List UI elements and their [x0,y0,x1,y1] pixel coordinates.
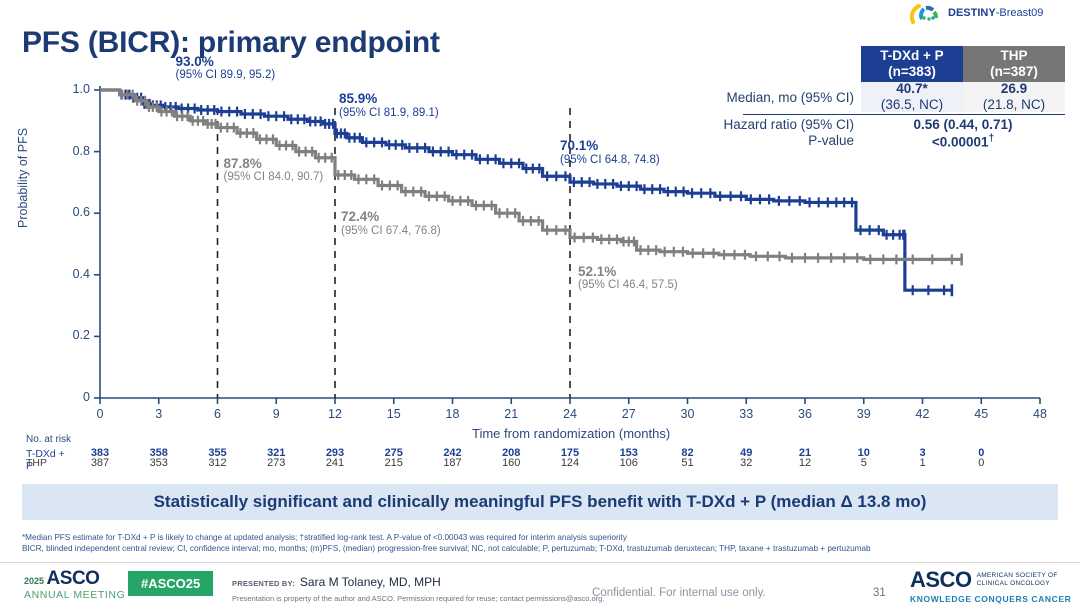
permission-text: Presentation is property of the author a… [232,594,604,603]
x-axis-tick: 36 [790,407,820,421]
annotation-ci: (95% CI 89.9, 95.2) [176,69,276,82]
asco-meeting-logo: 2025 ASCO ANNUAL MEETING [24,569,125,601]
conclusion-banner: Statistically significant and clinically… [22,484,1058,520]
at-risk-cell: 387 [83,457,117,469]
study-logo-suffix: -Breast09 [996,7,1044,19]
slide-footer: 2025 ASCO ANNUAL MEETING #ASCO25 PRESENT… [0,562,1080,609]
x-axis-tick: 39 [849,407,879,421]
column-header-tdxd-name: T-DXd + P [861,48,963,64]
x-axis-tick: 45 [966,407,996,421]
results-table-header-row: T-DXd + P (n=383) THP (n=387) [655,46,1065,82]
study-logo-name: DESTINY [948,7,996,19]
annotation-percent: 52.1% [578,264,678,280]
y-axis-tick: 0.4 [58,267,90,281]
at-risk-cell: 124 [553,457,587,469]
x-axis-tick: 3 [144,407,174,421]
page-number: 31 [873,587,886,599]
y-axis-tick: 0.8 [58,144,90,158]
results-header-spacer [655,46,861,82]
asco-society-logo-row: ASCO AMERICAN SOCIETY OF CLINICAL ONCOLO… [910,569,1071,591]
x-axis-tick: 21 [496,407,526,421]
at-risk-cell: 0 [964,457,998,469]
annotation-ci: (95% CI 46.4, 57.5) [578,279,678,292]
presenter-name: Sara M Tolaney, MD, MPH [300,575,441,589]
chart-annotation: 70.1%(95% CI 64.8, 74.8) [560,138,660,167]
x-axis-tick: 15 [379,407,409,421]
asco-sub-line2: CLINICAL ONCOLOGY [977,580,1051,587]
column-header-thp-n: (n=387) [963,64,1065,80]
presenter-block: PRESENTED BY:Sara M Tolaney, MD, MPH Pre… [232,573,604,603]
study-logo-text: DESTINY-Breast09 [948,7,1043,19]
annotation-ci: (95% CI 84.0, 90.7) [224,171,324,184]
at-risk-cell: 187 [436,457,470,469]
annotation-percent: 70.1% [560,138,660,154]
at-risk-cell: 160 [494,457,528,469]
asco-society-logo: ASCO AMERICAN SOCIETY OF CLINICAL ONCOLO… [910,569,1071,604]
x-axis-tick: 12 [320,407,350,421]
column-header-tdxd-n: (n=383) [861,64,963,80]
at-risk-header: No. at risk [26,434,71,445]
footnote-line-2: BICR, blinded independent central review… [22,544,871,553]
asco-tagline: KNOWLEDGE CONQUERS CANCER [910,594,1071,604]
at-risk-cell: 273 [259,457,293,469]
annotation-ci: (95% CI 64.8, 74.8) [560,154,660,167]
column-header-thp-name: THP [963,48,1065,64]
at-risk-cell: 241 [318,457,352,469]
annotation-percent: 85.9% [339,91,439,107]
asco-society-subtitle: AMERICAN SOCIETY OF CLINICAL ONCOLOGY [977,569,1058,588]
asco-meeting-org: ASCO [47,568,100,589]
confidential-notice: Confidential. For internal use only. [592,587,766,599]
x-axis-label: Time from randomization (months) [472,426,670,441]
at-risk-table: No. at risk T-DXd + P THP 38338735835335… [26,434,71,446]
x-axis-tick: 18 [438,407,468,421]
asco-society-name: ASCO [910,569,972,591]
km-chart: Probability of PFS Time from randomizati… [22,78,1052,428]
asco-meeting-sub: ANNUAL MEETING [24,589,125,601]
chart-annotation: 72.4%(95% CI 67.4, 76.8) [341,209,441,238]
at-risk-cell: 32 [729,457,763,469]
at-risk-cell: 215 [377,457,411,469]
at-risk-cell: 1 [906,457,940,469]
annotation-percent: 72.4% [341,209,441,225]
x-axis-tick: 33 [731,407,761,421]
footnote-line-1: *Median PFS estimate for T-DXd + P is li… [22,533,627,542]
at-risk-cell: 12 [788,457,822,469]
slide: DESTINY-Breast09 PFS (BICR): primary end… [0,0,1080,608]
y-axis-tick: 1.0 [58,82,90,96]
asco-sub-line1: AMERICAN SOCIETY OF [977,572,1058,579]
at-risk-cell: 353 [142,457,176,469]
hashtag-badge: #ASCO25 [128,571,213,596]
y-axis-tick: 0 [58,390,90,404]
at-risk-row-label-thp: THP [26,457,47,469]
asco-meeting-year: 2025 [24,576,44,586]
annotation-percent: 93.0% [176,54,276,70]
km-plot-svg [22,78,1052,426]
column-header-thp: THP (n=387) [963,46,1065,82]
at-risk-cell: 51 [671,457,705,469]
asco-meeting-year-row: 2025 ASCO [24,569,125,588]
presented-by-label: PRESENTED BY: [232,579,295,588]
x-axis-tick: 30 [673,407,703,421]
at-risk-cell: 106 [612,457,646,469]
x-axis-tick: 42 [908,407,938,421]
annotation-ci: (95% CI 81.9, 89.1) [339,107,439,120]
x-axis-tick: 48 [1025,407,1055,421]
x-axis-tick: 9 [261,407,291,421]
annotation-percent: 87.8% [224,156,324,172]
at-risk-cell: 312 [201,457,235,469]
annotation-ci: (95% CI 67.4, 76.8) [341,225,441,238]
chart-annotation: 52.1%(95% CI 46.4, 57.5) [578,264,678,293]
at-risk-cell: 5 [847,457,881,469]
x-axis-tick: 0 [85,407,115,421]
destiny-breast-logo-icon [910,2,944,24]
y-axis-tick: 0.6 [58,205,90,219]
km-curve [100,90,952,290]
chart-annotation: 93.0%(95% CI 89.9, 95.2) [176,54,276,83]
y-axis-tick: 0.2 [58,328,90,342]
y-axis-label: Probability of PFS [16,128,30,228]
chart-annotation: 85.9%(95% CI 81.9, 89.1) [339,91,439,120]
chart-annotation: 87.8%(95% CI 84.0, 90.7) [224,156,324,185]
column-header-tdxd: T-DXd + P (n=383) [861,46,963,82]
study-logo: DESTINY-Breast09 [910,2,1043,24]
x-axis-tick: 6 [203,407,233,421]
x-axis-tick: 27 [614,407,644,421]
x-axis-tick: 24 [555,407,585,421]
presenter-line: PRESENTED BY:Sara M Tolaney, MD, MPH [232,573,604,591]
